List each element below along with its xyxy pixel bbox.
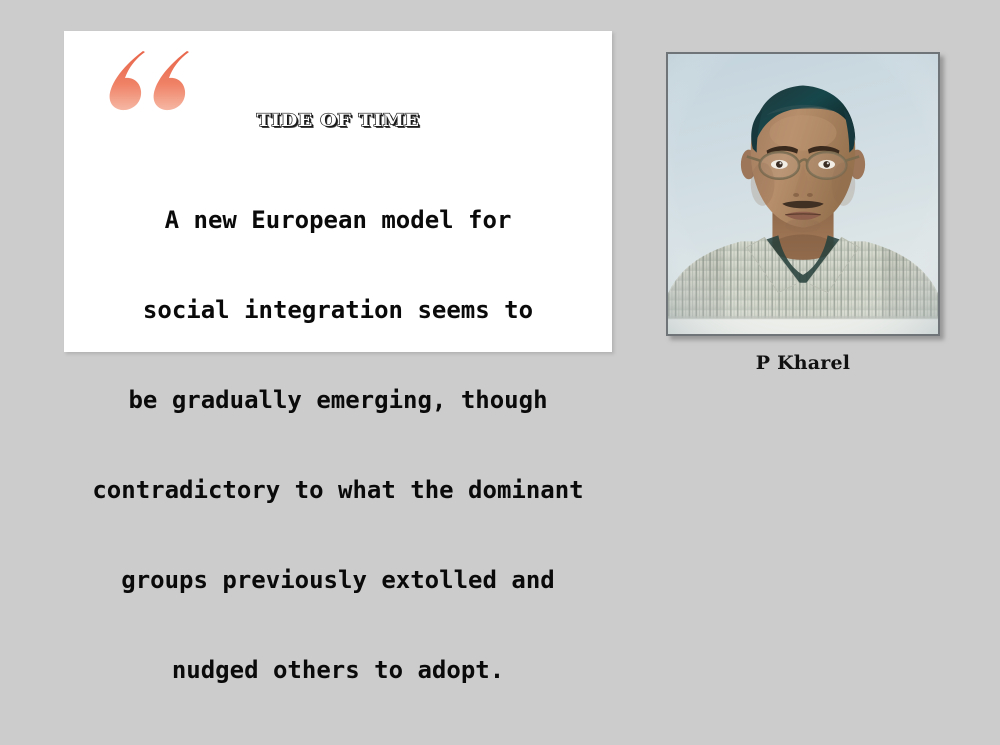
tide-of-time-heading: TIDE OF TIME: [31, 111, 645, 131]
portrait-photo: [668, 54, 938, 334]
quote-line: groups previously extolled and: [74, 565, 602, 595]
screenshot-canvas: TIDE OF TIME A new European model for so…: [0, 0, 1000, 400]
quote-line: A new European model for: [74, 205, 602, 235]
portrait-frame: [666, 52, 940, 336]
quote-text: A new European model for social integrat…: [74, 145, 602, 745]
quote-line: be gradually emerging, though: [74, 385, 602, 415]
portrait-caption: P Kharel: [666, 352, 940, 374]
left-double-quote-icon: [105, 49, 200, 111]
quote-card: TIDE OF TIME A new European model for so…: [64, 31, 612, 352]
quote-line: social integration seems to: [74, 295, 602, 325]
quote-line: contradictory to what the dominant: [74, 475, 602, 505]
quote-line: nudged others to adopt.: [74, 655, 602, 685]
portrait-figure: [666, 52, 940, 336]
